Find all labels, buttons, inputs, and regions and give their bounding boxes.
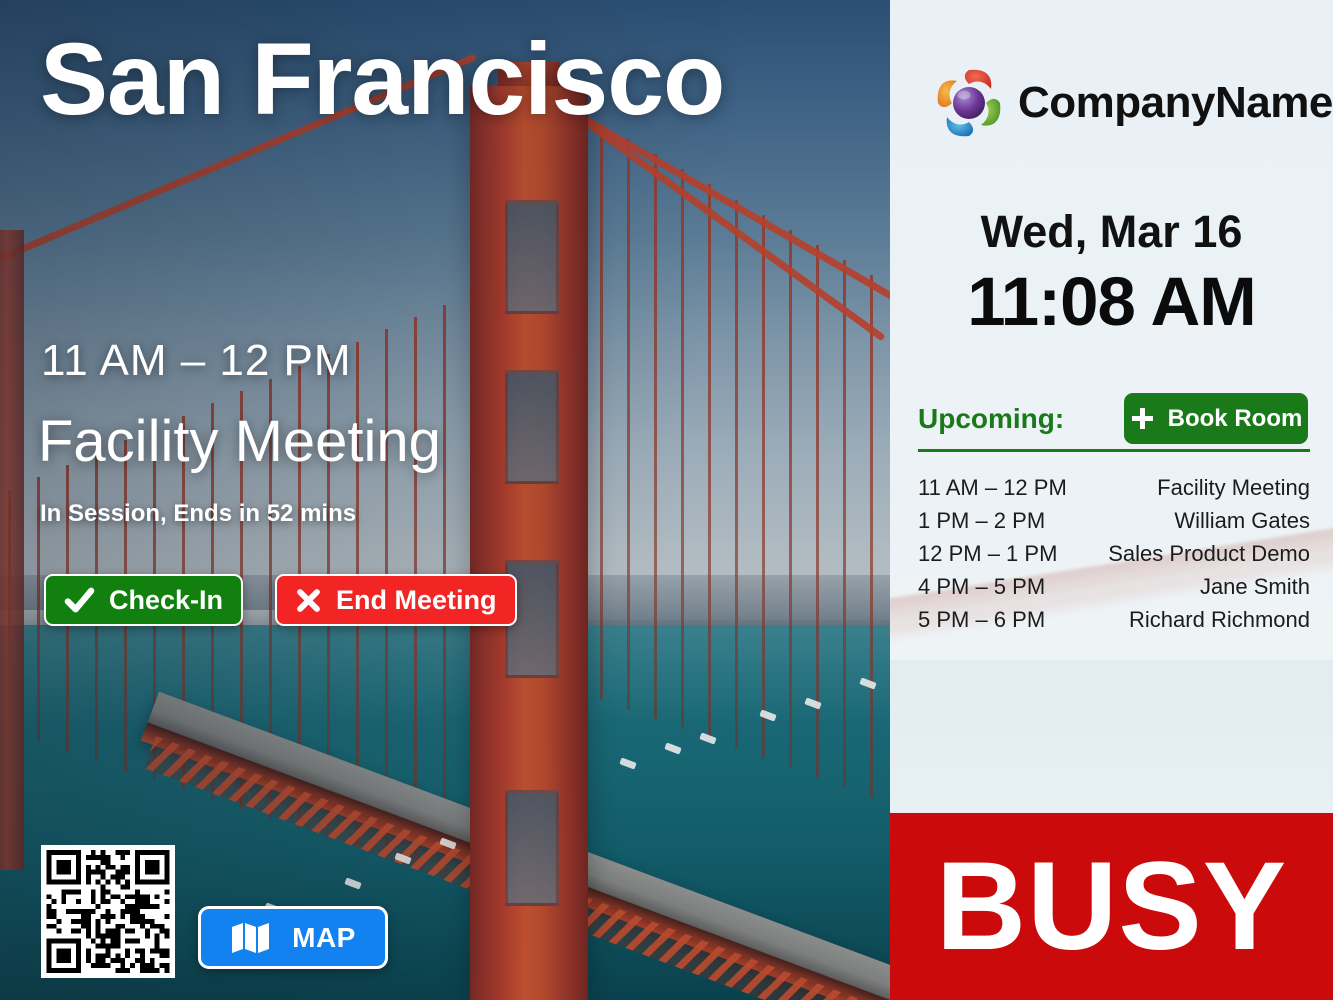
schedule-row-time: 1 PM – 2 PM: [918, 510, 1045, 532]
status-label: BUSY: [936, 844, 1287, 969]
tower-window-4: [505, 790, 559, 906]
far-bridge-tower: [0, 230, 24, 870]
schedule-row-title: Facility Meeting: [1157, 477, 1310, 499]
end-meeting-button[interactable]: End Meeting: [275, 574, 517, 626]
tower-window-2: [505, 370, 559, 484]
schedule-row-title: Sales Product Demo: [1108, 543, 1310, 565]
schedule-row-time: 5 PM – 6 PM: [918, 609, 1045, 631]
schedule-row-time: 12 PM – 1 PM: [918, 543, 1057, 565]
qr-code-icon[interactable]: [41, 845, 175, 978]
check-icon: [64, 585, 95, 616]
suspender-cable: [870, 275, 873, 797]
schedule-row[interactable]: 4 PM – 5 PMJane Smith: [918, 571, 1310, 604]
upcoming-heading: Upcoming:: [918, 403, 1064, 435]
suspender-cable: [735, 200, 738, 749]
current-meeting-status: In Session, Ends in 52 mins: [40, 500, 356, 528]
room-name: San Francisco: [40, 28, 724, 130]
schedule-row[interactable]: 11 AM – 12 PMFacility Meeting: [918, 472, 1310, 505]
map-button[interactable]: MAP: [198, 906, 388, 969]
schedule-row[interactable]: 1 PM – 2 PMWilliam Gates: [918, 505, 1310, 538]
check-in-button[interactable]: Check-In: [44, 574, 243, 626]
suspender-cable: [762, 215, 765, 759]
suspender-cable: [627, 139, 630, 710]
suspender-cable: [843, 260, 846, 787]
suspender-cable: [681, 169, 684, 729]
faded-water: [890, 660, 1333, 813]
suspender-cable: [600, 124, 603, 700]
x-icon: [295, 587, 322, 614]
schedule-row[interactable]: 5 PM – 6 PMRichard Richmond: [918, 604, 1310, 637]
upcoming-divider: [918, 449, 1310, 452]
suspender-cable: [708, 184, 711, 738]
company-pinwheel-logo-icon: [930, 62, 1008, 144]
room-hero-panel: San Francisco 11 AM – 12 PM Facility Mee…: [0, 0, 890, 1000]
schedule-row-title: Jane Smith: [1200, 576, 1310, 598]
tower-window-1: [505, 200, 559, 314]
upcoming-schedule-list: 11 AM – 12 PMFacility Meeting1 PM – 2 PM…: [918, 472, 1310, 637]
map-icon: [230, 921, 272, 955]
company-brand: CompanyName: [930, 62, 1333, 144]
company-name: CompanyName: [1018, 78, 1333, 128]
suspender-cable: [654, 154, 657, 719]
suspender-cable: [816, 245, 819, 778]
map-label: MAP: [292, 922, 356, 954]
current-date: Wed, Mar 16: [890, 206, 1333, 258]
suspender-cable: [789, 230, 792, 768]
room-display-screen: San Francisco 11 AM – 12 PM Facility Mee…: [0, 0, 1333, 1000]
schedule-row-time: 4 PM – 5 PM: [918, 576, 1045, 598]
schedule-row-time: 11 AM – 12 PM: [918, 477, 1067, 499]
check-in-label: Check-In: [109, 585, 223, 616]
schedule-row[interactable]: 12 PM – 1 PMSales Product Demo: [918, 538, 1310, 571]
schedule-row-title: Richard Richmond: [1129, 609, 1310, 631]
book-room-label: Book Room: [1168, 405, 1303, 433]
book-room-button[interactable]: Book Room: [1124, 393, 1308, 444]
plus-icon: [1130, 406, 1155, 431]
end-meeting-label: End Meeting: [336, 585, 497, 616]
schedule-row-title: William Gates: [1174, 510, 1310, 532]
current-meeting-time: 11 AM – 12 PM: [41, 336, 352, 386]
status-badge: BUSY: [890, 813, 1333, 1000]
current-meeting-title: Facility Meeting: [38, 408, 441, 475]
current-time: 11:08 AM: [890, 262, 1333, 341]
